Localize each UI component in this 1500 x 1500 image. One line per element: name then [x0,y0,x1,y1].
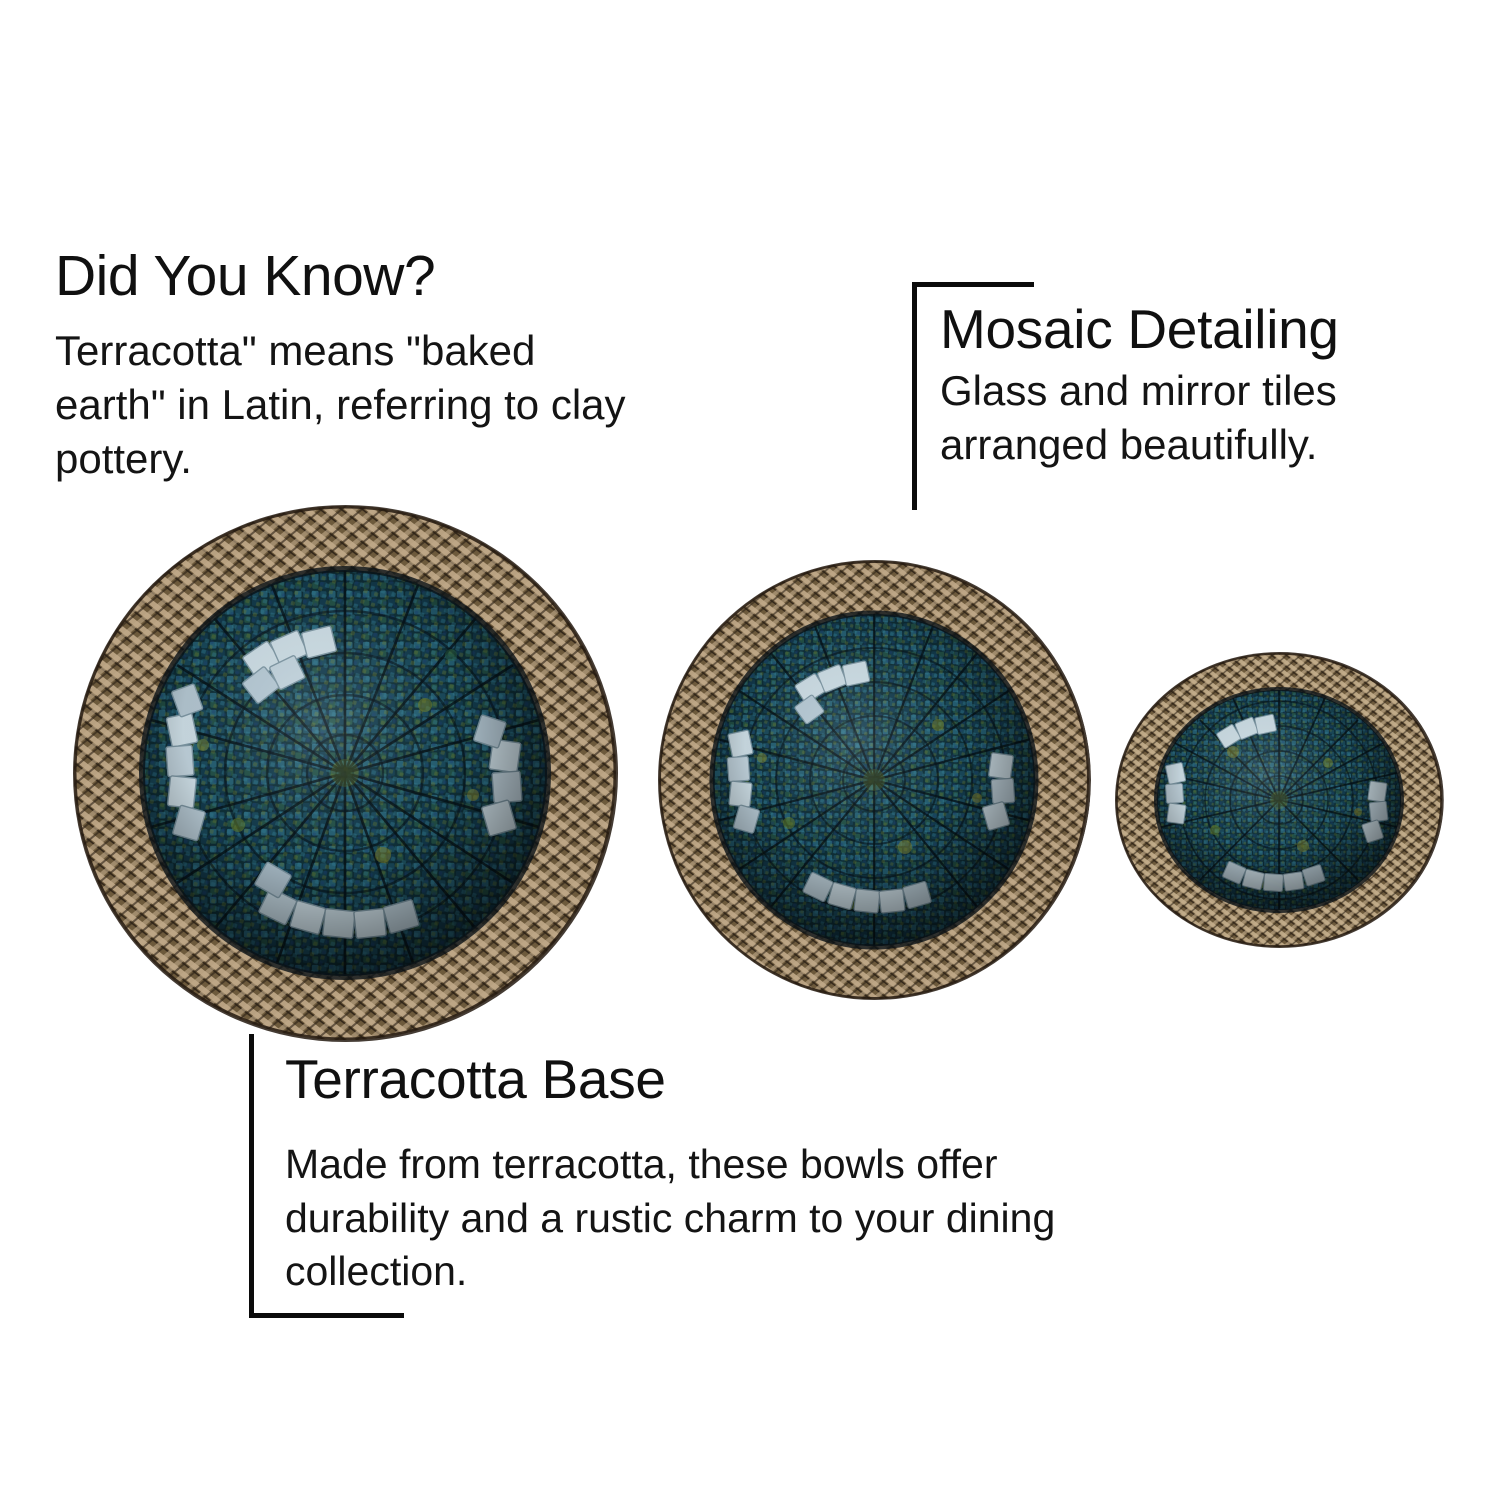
did-you-know-body: Terracotta" means "baked earth" in Latin… [55,324,655,485]
infographic-canvas: Did You Know? Terracotta" means "baked e… [0,0,1500,1500]
product-image-small-bowl [1115,652,1444,948]
callout-terracotta-base: Terracotta Base Made from terracotta, th… [285,1050,1105,1298]
bracket-horizontal-line [912,282,1034,287]
bracket-vertical-line [912,282,917,510]
terracotta-base-body: Made from terracotta, these bowls offer … [285,1138,1105,1298]
product-image-large-bowl [73,505,618,1042]
callout-bracket-mosaic [912,282,1034,510]
callout-did-you-know: Did You Know? Terracotta" means "baked e… [55,246,655,486]
bracket-vertical-line [249,1034,254,1318]
did-you-know-heading: Did You Know? [55,246,655,306]
callout-bracket-terracotta [249,1034,404,1318]
product-image-medium-bowl [658,560,1091,1000]
bracket-horizontal-line [249,1313,404,1318]
terracotta-base-heading: Terracotta Base [285,1050,1105,1108]
